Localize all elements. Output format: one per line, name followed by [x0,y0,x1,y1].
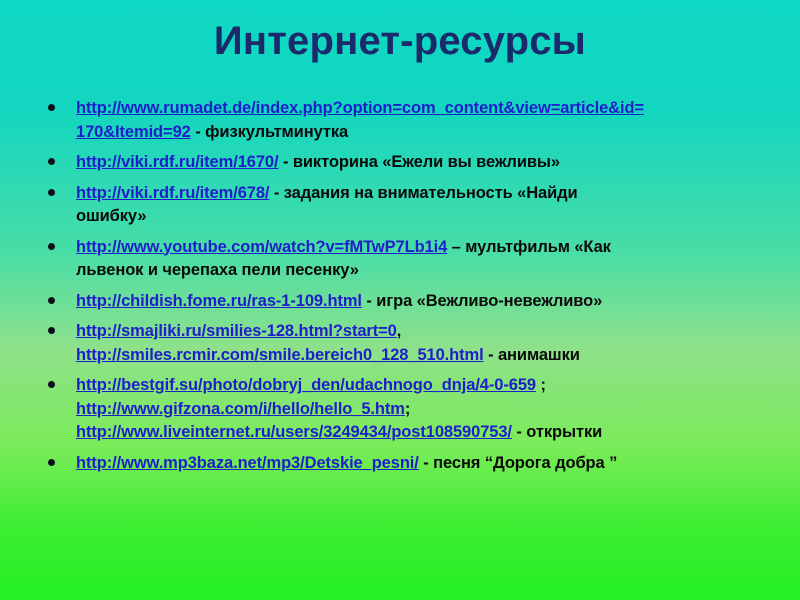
list-item-content: http://bestgif.su/photo/dobryj_den/udach… [76,374,758,445]
resource-link[interactable]: http://www.liveinternet.ru/users/3249434… [76,423,512,441]
bullet-dot-icon [48,381,55,388]
list-item: http://www.youtube.com/watch?v=fMTwP7Lb1… [42,236,758,283]
presentation-slide: Интернет-ресурсы http://www.rumadet.de/i… [0,0,800,600]
list-item: http://childish.fome.ru/ras-1-109.html -… [42,290,758,314]
bullet-dot-icon [48,104,55,111]
resource-description: - игра «Вежливо-невежливо» [362,292,602,310]
list-item-line: 170&Itemid=92 - физкультминутка [76,121,758,145]
list-item-line: http://www.gifzona.com/i/hello/hello_5.h… [76,398,758,422]
list-item: http://www.rumadet.de/index.php?option=c… [42,97,758,144]
resource-description: ошибку» [76,207,147,225]
resource-list: http://www.rumadet.de/index.php?option=c… [42,97,758,482]
list-item: http://smajliki.ru/smilies-128.html?star… [42,320,758,367]
list-item-content: http://viki.rdf.ru/item/1670/ - викторин… [76,151,758,175]
list-item-content: http://www.mp3baza.net/mp3/Detskie_pesni… [76,452,758,476]
list-item-line: http://www.youtube.com/watch?v=fMTwP7Lb1… [76,236,758,260]
resource-link[interactable]: http://www.rumadet.de/index.php?option=c… [76,99,644,117]
resource-description: львенок и черепаха пели песенку» [76,261,359,279]
bullet-dot-icon [48,459,55,466]
resource-link[interactable]: http://viki.rdf.ru/item/1670/ [76,153,278,171]
resource-link[interactable]: http://childish.fome.ru/ras-1-109.html [76,292,362,310]
list-item-line: ошибку» [76,205,758,229]
list-item-line: http://smajliki.ru/smilies-128.html?star… [76,320,758,344]
bullet-dot-icon [48,327,55,334]
list-item-line: http://viki.rdf.ru/item/678/ - задания н… [76,182,758,206]
list-item: http://bestgif.su/photo/dobryj_den/udach… [42,374,758,445]
resource-link[interactable]: http://www.youtube.com/watch?v=fMTwP7Lb1… [76,238,447,256]
resource-link[interactable]: http://bestgif.su/photo/dobryj_den/udach… [76,376,536,394]
resource-description: - открытки [512,423,602,441]
list-item-content: http://childish.fome.ru/ras-1-109.html -… [76,290,758,314]
resource-description: - викторина «Ежели вы вежливы» [278,153,560,171]
list-item-line: http://viki.rdf.ru/item/1670/ - викторин… [76,151,758,175]
resource-description: - задания на внимательность «Найди [269,184,577,202]
list-item-content: http://viki.rdf.ru/item/678/ - задания н… [76,182,758,229]
bullet-dot-icon [48,243,55,250]
resource-description: - анимашки [484,346,580,364]
resource-link[interactable]: http://viki.rdf.ru/item/678/ [76,184,269,202]
list-item-line: http://www.liveinternet.ru/users/3249434… [76,421,758,445]
list-item-content: http://smajliki.ru/smilies-128.html?star… [76,320,758,367]
list-item-line: http://bestgif.su/photo/dobryj_den/udach… [76,374,758,398]
resource-link[interactable]: 170&Itemid=92 [76,123,191,141]
list-item: http://viki.rdf.ru/item/1670/ - викторин… [42,151,758,175]
list-item: http://www.mp3baza.net/mp3/Detskie_pesni… [42,452,758,476]
list-item-line: львенок и черепаха пели песенку» [76,259,758,283]
resource-link[interactable]: http://smajliki.ru/smilies-128.html?star… [76,322,397,340]
list-item-line: http://www.rumadet.de/index.php?option=c… [76,97,758,121]
resource-link[interactable]: http://www.gifzona.com/i/hello/hello_5.h… [76,400,405,418]
resource-description: ; [405,400,410,418]
list-item-line: http://smiles.rcmir.com/smile.bereich0_1… [76,344,758,368]
page-title: Интернет-ресурсы [0,18,800,64]
resource-link[interactable]: http://www.mp3baza.net/mp3/Detskie_pesni… [76,454,419,472]
resource-description: ; [536,376,546,394]
list-item-line: http://childish.fome.ru/ras-1-109.html -… [76,290,758,314]
bullet-dot-icon [48,158,55,165]
resource-description: - песня “Дорога добра ” [419,454,617,472]
list-item-content: http://www.youtube.com/watch?v=fMTwP7Lb1… [76,236,758,283]
resource-link[interactable]: http://smiles.rcmir.com/smile.bereich0_1… [76,346,484,364]
list-item-line: http://www.mp3baza.net/mp3/Detskie_pesni… [76,452,758,476]
list-item: http://viki.rdf.ru/item/678/ - задания н… [42,182,758,229]
bullet-dot-icon [48,189,55,196]
resource-description: – мультфильм «Как [447,238,611,256]
list-item-content: http://www.rumadet.de/index.php?option=c… [76,97,758,144]
bullet-dot-icon [48,297,55,304]
resource-description: , [397,322,401,340]
resource-description: - физкультминутка [191,123,348,141]
